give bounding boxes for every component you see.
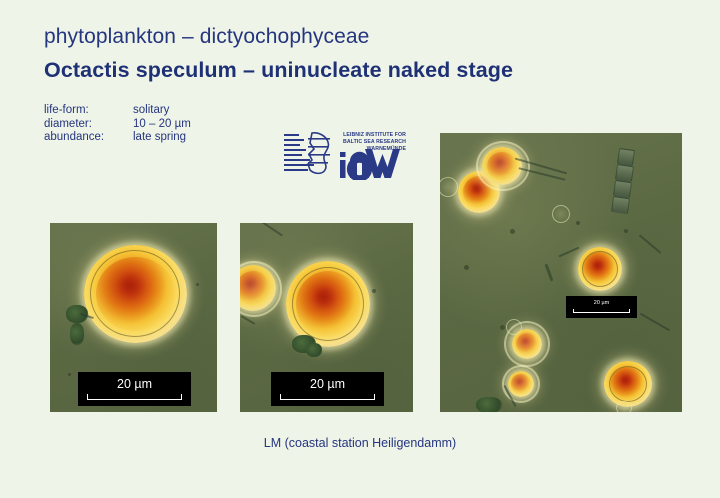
debris-clump xyxy=(306,343,322,357)
micrograph-3[interactable]: 20 µm xyxy=(440,133,682,412)
metadata-row-life-form: life-form: solitary xyxy=(44,104,191,118)
scale-bar-rule xyxy=(87,394,182,400)
logo-line-2: BALTIC SEA RESEARCH xyxy=(343,139,406,145)
metadata-row-abundance: abundance: late spring xyxy=(44,131,191,145)
small-cell-ring xyxy=(552,205,570,223)
micrograph-1[interactable]: 20 µm xyxy=(50,223,217,412)
debris-dot xyxy=(464,265,469,270)
diatom-chain-segment xyxy=(611,196,630,214)
micrograph-3-field xyxy=(440,133,682,412)
figure-caption: LM (coastal station Heiligendamm) xyxy=(0,436,720,450)
page-subtitle: Octactis speculum – uninucleate naked st… xyxy=(44,58,513,83)
metadata-label: life-form: xyxy=(44,104,133,118)
metadata-value: late spring xyxy=(133,131,186,145)
cell-halo-ring xyxy=(502,365,540,403)
cell-halo-ring xyxy=(476,141,530,191)
logo-line-1: LEIBNIZ INSTITUTE FOR xyxy=(343,132,406,138)
metadata-label: abundance: xyxy=(44,131,133,145)
scale-bar-rule xyxy=(280,394,375,400)
page-title: phytoplankton – dictyochophyceae xyxy=(44,25,369,49)
cell-rim xyxy=(582,251,618,287)
metadata-value: solitary xyxy=(133,104,169,118)
debris-dot xyxy=(510,229,515,234)
metadata-label: diameter: xyxy=(44,118,133,132)
logo-line-3: WARNEMÜNDE xyxy=(367,145,407,152)
scale-bar-label: 20 µm xyxy=(310,378,345,391)
debris-clump xyxy=(70,323,84,345)
debris-dot xyxy=(68,373,71,376)
small-cell-ring xyxy=(506,319,522,335)
scale-bar-rule xyxy=(573,309,630,313)
small-cell-ring xyxy=(616,401,632,412)
micrograph-2[interactable]: 20 µm xyxy=(240,223,413,412)
cell-rim xyxy=(292,267,364,341)
debris-dot xyxy=(624,229,628,233)
cell-rim xyxy=(90,250,180,337)
iow-logo: LEIBNIZ INSTITUTE FOR BALTIC SEA RESEARC… xyxy=(284,130,409,180)
metadata-row-diameter: diameter: 10 – 20 µm xyxy=(44,118,191,132)
scale-bar: 20 µm xyxy=(271,372,384,406)
debris-clump xyxy=(476,397,502,412)
debris-dot xyxy=(500,325,505,330)
cell-rim xyxy=(609,366,647,402)
debris-dot xyxy=(576,221,580,225)
debris-dot xyxy=(372,289,376,293)
metadata-value: 10 – 20 µm xyxy=(133,118,191,132)
species-metadata: life-form: solitary diameter: 10 – 20 µm… xyxy=(44,104,191,145)
scale-bar-label: 20 µm xyxy=(594,301,609,307)
scale-bar: 20 µm xyxy=(566,296,637,318)
scale-bar: 20 µm xyxy=(78,372,191,406)
scale-bar-label: 20 µm xyxy=(117,378,152,391)
debris-dot xyxy=(196,283,199,286)
slide-canvas: phytoplankton – dictyochophyceae Octacti… xyxy=(0,0,720,498)
